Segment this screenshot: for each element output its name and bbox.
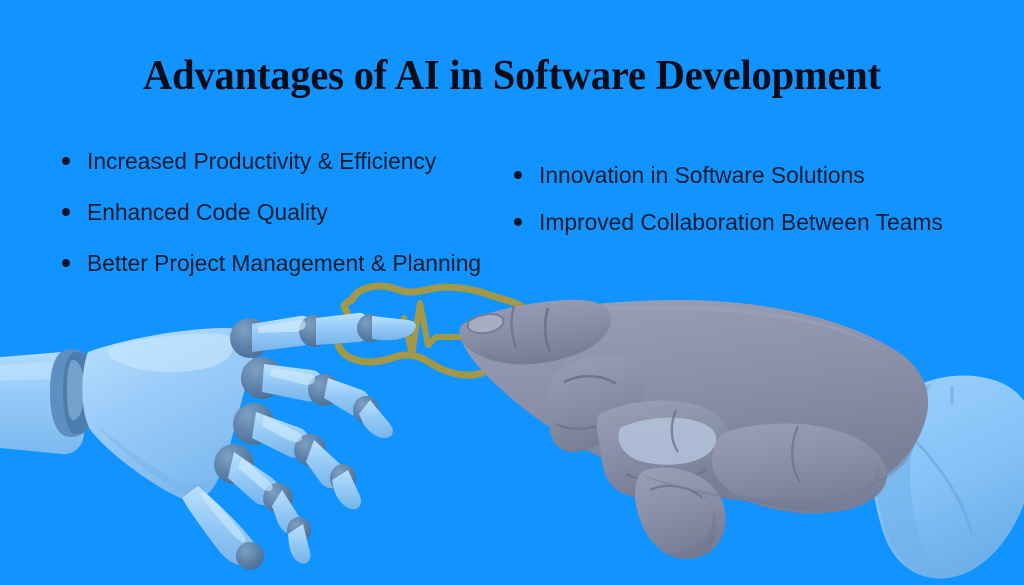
bullet-dot-icon [62, 208, 70, 216]
human-hand-back-highlight [520, 306, 906, 368]
robot-palm [82, 328, 253, 500]
robot-palm-highlight [108, 334, 234, 372]
robot-knuckle-pinky [214, 444, 254, 484]
energy-spark-outline [338, 286, 531, 375]
robot-middle-highlight [270, 368, 315, 385]
human-ring-crease-2 [626, 470, 706, 482]
human-thumb-crease [792, 426, 800, 482]
robot-segment-middle-1 [262, 364, 323, 401]
bullet-dot-icon [62, 157, 70, 165]
list-item: Innovation in Software Solutions [514, 160, 994, 190]
robot-joint-pinky-2 [287, 517, 311, 543]
robot-joint-ring-2 [330, 464, 356, 492]
robot-joint-middle-2 [353, 396, 379, 424]
list-item-label: Innovation in Software Solutions [539, 160, 865, 190]
robot-segment-index-1 [252, 316, 313, 352]
list-item: Improved Collaboration Between Teams [514, 207, 994, 237]
robot-thumb-joint [236, 542, 264, 570]
list-item: Better Project Management & Planning [62, 248, 502, 278]
robot-segment-index-2 [316, 313, 369, 345]
human-palm-shadow [610, 442, 916, 504]
robot-joint-index-2 [357, 314, 383, 342]
robot-joint-middle-1 [308, 374, 340, 406]
robot-thumb-segment [182, 486, 257, 565]
list-item-label: Better Project Management & Planning [87, 248, 481, 278]
robot-pinky-highlight [238, 458, 273, 491]
human-sleeve-fold [892, 418, 972, 534]
robot-segment-ring-2 [306, 440, 345, 488]
list-item-label: Increased Productivity & Efficiency [87, 146, 436, 176]
robot-knuckle-index [230, 318, 270, 358]
list-item: Increased Productivity & Efficiency [62, 146, 502, 176]
robot-joint-pinky-1 [263, 483, 293, 513]
robot-wrist-highlight [67, 360, 84, 420]
robot-finger-thumb [182, 486, 264, 570]
human-middle-finger [548, 354, 644, 451]
robot-joint-index-1 [299, 315, 329, 347]
bullet-column-right: Innovation in Software Solutions Improve… [514, 160, 994, 254]
robot-joint-ring-1 [294, 434, 326, 466]
human-ring-highlight [618, 418, 716, 465]
human-pinky-finger [635, 468, 726, 559]
list-item: Enhanced Code Quality [62, 197, 502, 227]
human-thumb [712, 423, 887, 513]
robot-forearm [0, 352, 84, 454]
robot-segment-ring-1 [252, 412, 309, 458]
robot-fingertip-ring [332, 470, 361, 509]
human-index-knuckle-line-2 [512, 306, 516, 348]
list-item-label: Improved Collaboration Between Teams [539, 207, 943, 237]
human-ring-finger [597, 400, 731, 498]
robot-thumb-highlight [200, 492, 245, 542]
slide-canvas: Advantages of AI in Software Development… [0, 0, 1024, 585]
human-index-shadow [476, 326, 606, 364]
robot-fingertip-middle [359, 400, 393, 438]
energy-spark-heartbeat [340, 303, 470, 355]
robot-finger-middle [241, 357, 393, 438]
bullet-dot-icon [514, 171, 522, 179]
bullet-dot-icon [514, 218, 522, 226]
robot-index-highlight [258, 320, 306, 333]
bullet-dot-icon [62, 259, 70, 267]
human-ring-crease [672, 410, 678, 452]
robot-finger-pinky [214, 444, 311, 563]
human-index-finger [460, 300, 612, 365]
robot-segment-pinky-2 [272, 490, 302, 534]
list-item-label: Enhanced Code Quality [87, 197, 328, 227]
robot-finger-ring [233, 403, 361, 509]
robot-wrist-joint-shadow [63, 352, 98, 434]
human-middle-crease-2 [556, 420, 608, 429]
robot-fingertip-pinky [288, 524, 310, 563]
energy-spark-group [338, 286, 531, 375]
robot-wrist-joint [50, 349, 98, 437]
human-index-knuckle-line [545, 308, 550, 352]
human-index-fingernail [468, 314, 503, 333]
human-sleeve-shadow [873, 384, 936, 572]
robot-ring-highlight [262, 416, 302, 442]
robot-finger-index [230, 313, 416, 358]
human-middle-crease [564, 376, 616, 384]
robot-forearm-highlight [0, 361, 66, 381]
human-hand [460, 300, 1024, 579]
robot-hand [0, 313, 416, 570]
robot-segment-middle-2 [324, 378, 369, 416]
bullet-column-left: Increased Productivity & Efficiency Enha… [62, 146, 502, 299]
robot-fingertip-index [372, 316, 416, 340]
robot-segment-pinky-1 [228, 452, 278, 505]
robot-knuckle-middle [241, 357, 283, 399]
robot-knuckle-ring [233, 403, 275, 445]
human-thumb-shadow [736, 462, 879, 508]
human-hand-back [460, 300, 928, 504]
human-pinky-shadow [668, 492, 717, 559]
page-title: Advantages of AI in Software Development [18, 52, 1006, 100]
human-sleeve [870, 376, 1024, 579]
robot-palm-shadow [96, 424, 214, 494]
human-pinky-crease [650, 486, 702, 498]
